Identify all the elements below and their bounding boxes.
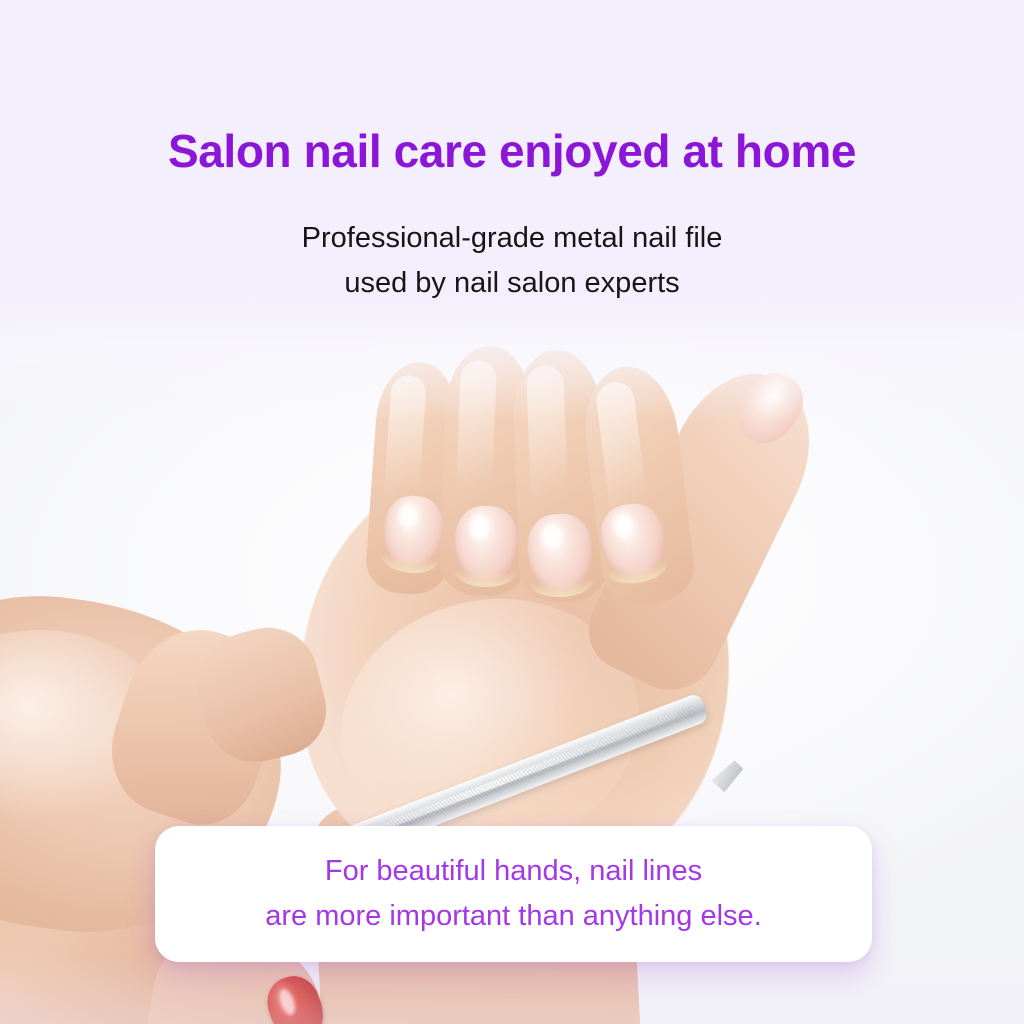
caption-line-2: are more important than anything else. (265, 894, 762, 939)
caption-card: For beautiful hands, nail lines are more… (155, 826, 872, 962)
subtitle: Professional-grade metal nail file used … (0, 216, 1024, 306)
subtitle-line-1: Professional-grade metal nail file (0, 216, 1024, 261)
fingernail-middle (454, 505, 519, 585)
fingernail-ring (526, 512, 594, 595)
caption-line-1: For beautiful hands, nail lines (325, 849, 702, 894)
red-painted-nail (260, 969, 332, 1024)
promo-banner: Salon nail care enjoyed at home Professi… (0, 0, 1024, 1024)
subtitle-line-2: used by nail salon experts (0, 261, 1024, 306)
fingernail-index (380, 493, 445, 573)
page-title: Salon nail care enjoyed at home (0, 124, 1024, 178)
nail-file-tip (707, 759, 748, 795)
